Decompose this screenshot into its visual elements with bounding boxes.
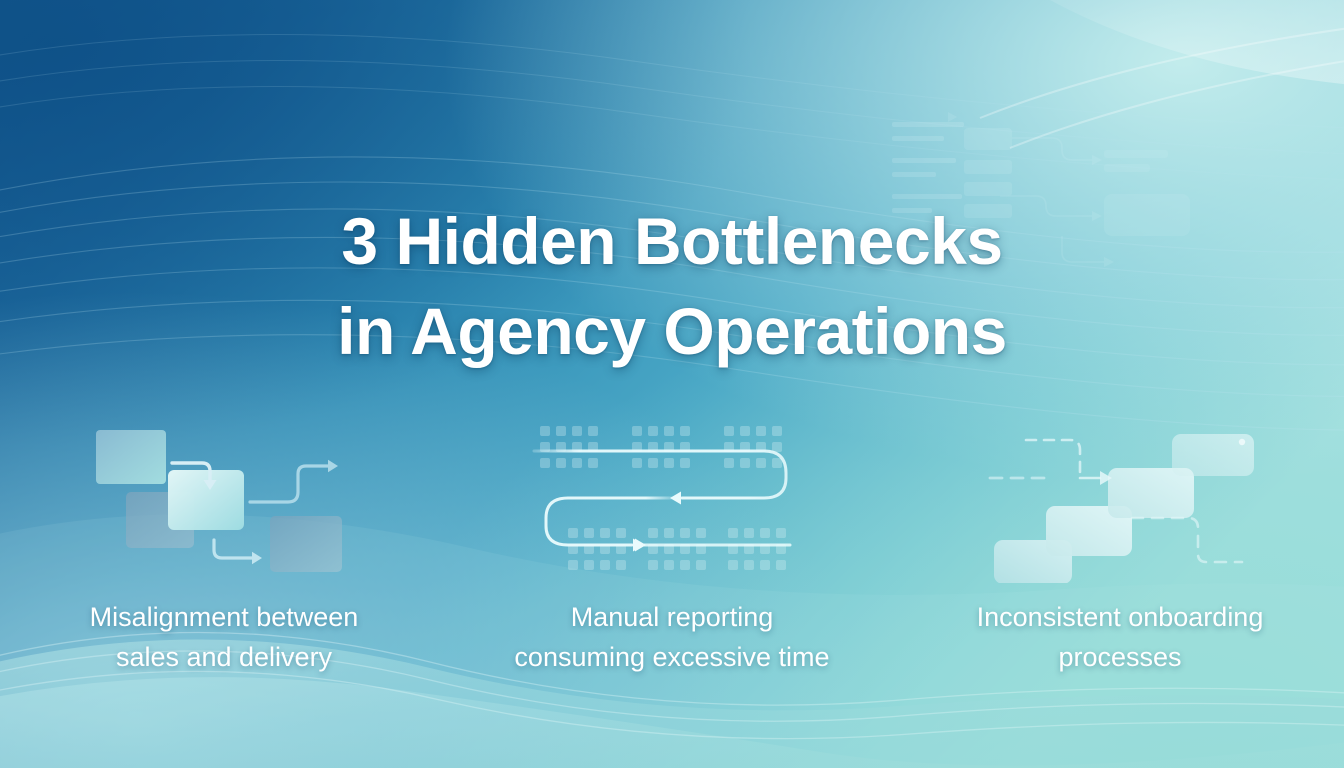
caption-1-line-1: Misalignment between [90,602,359,632]
bottleneck-caption-2: Manual reporting consuming excessive tim… [507,597,837,677]
onboarding-steps-icon [980,418,1260,583]
misaligned-flow-boxes-icon [84,418,364,583]
page-title: 3 Hidden Bottlenecks in Agency Operation… [0,196,1344,376]
bottleneck-card-3: Inconsistent onboarding processes [896,418,1344,677]
title-line-2: in Agency Operations [0,286,1344,376]
bottleneck-card-row: Misalignment between sales and delivery [0,418,1344,677]
bottleneck-card-2: Manual reporting consuming excessive tim… [448,418,896,677]
bottleneck-card-1: Misalignment between sales and delivery [0,418,448,677]
bottleneck-caption-1: Misalignment between sales and delivery [59,597,389,677]
title-line-1: 3 Hidden Bottlenecks [0,196,1344,286]
caption-3-line-1: Inconsistent onboarding [977,602,1264,632]
caption-3-line-2: processes [1058,642,1181,672]
bottleneck-caption-3: Inconsistent onboarding processes [955,597,1285,677]
caption-2-line-1: Manual reporting [571,602,774,632]
caption-1-line-2: sales and delivery [116,642,332,672]
slide-canvas: 3 Hidden Bottlenecks in Agency Operation… [0,0,1344,768]
manual-reporting-loop-icon [532,418,812,583]
caption-2-line-2: consuming excessive time [514,642,829,672]
